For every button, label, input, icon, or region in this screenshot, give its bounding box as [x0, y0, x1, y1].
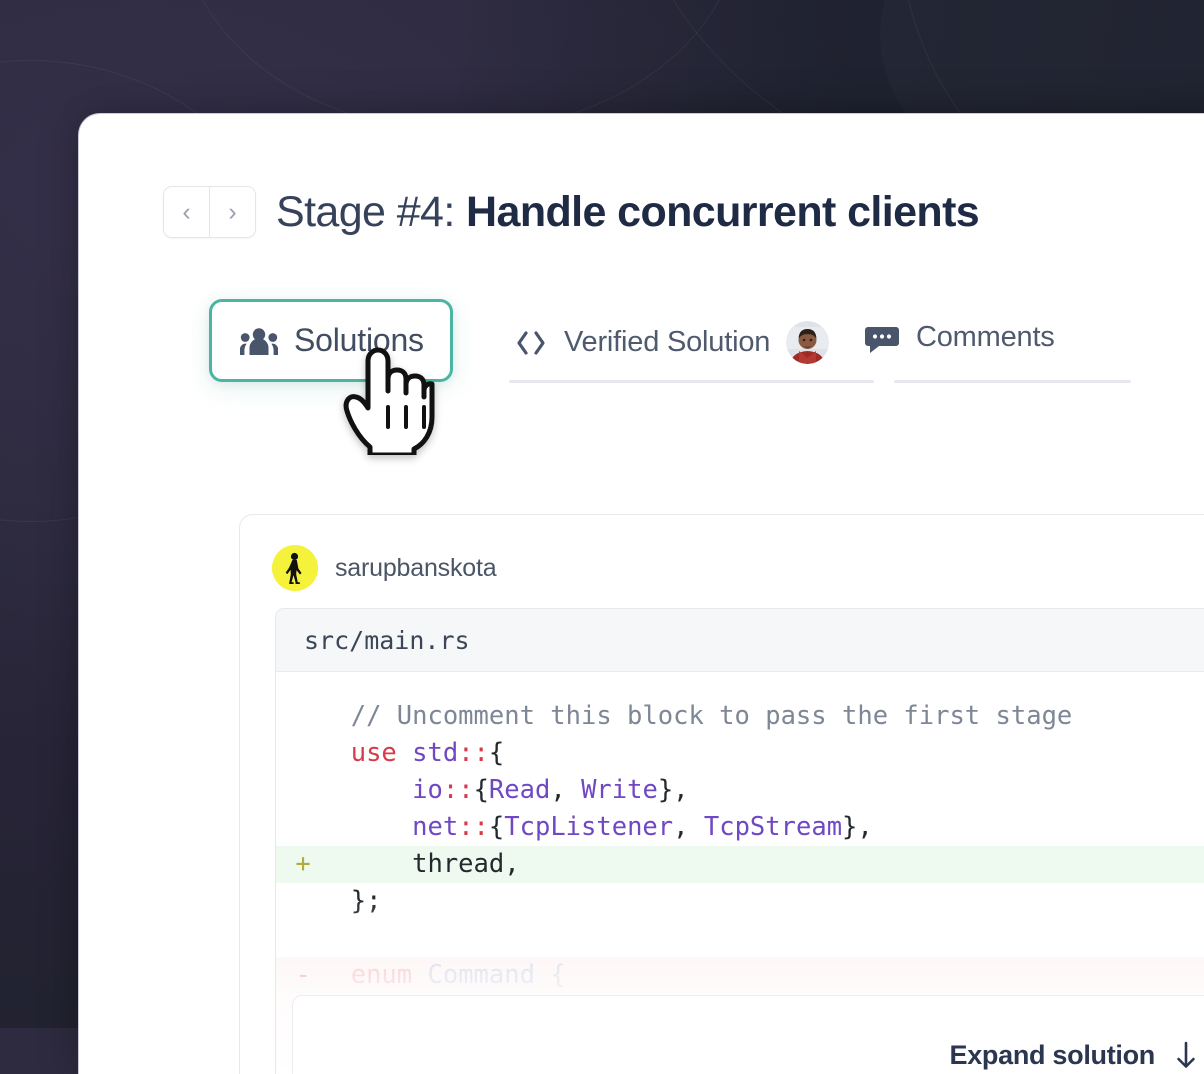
code-token: // Uncomment this block to pass the firs… [351, 701, 1073, 731]
code-token [412, 960, 427, 990]
tab-label-comments: Comments [916, 321, 1055, 354]
code-token [320, 701, 351, 731]
solution-panel: sarupbanskota src/main.rs // Uncomment t… [239, 514, 1204, 1074]
code-token: { [489, 812, 504, 842]
code-token [320, 738, 351, 768]
author-name: sarupbanskota [335, 554, 496, 583]
page-header: ‹ › Stage #4: Handle concurrent clients [163, 186, 979, 238]
people-icon [240, 326, 278, 356]
code-token [320, 886, 351, 916]
code-token: TcpStream [704, 812, 842, 842]
code-line-gutter [286, 698, 320, 735]
code-token: { [535, 960, 566, 990]
tab-label-verified: Verified Solution [564, 326, 770, 359]
next-stage-button[interactable]: › [210, 187, 255, 237]
code-token: { [489, 738, 504, 768]
code-token: , [550, 775, 581, 805]
code-line-gutter [286, 735, 320, 772]
code-line-gutter: - [286, 957, 320, 994]
app-window-card: ‹ › Stage #4: Handle concurrent clients … [78, 113, 1204, 1074]
code-token: , [673, 812, 704, 842]
tab-bar: Verified Solution [129, 307, 1204, 397]
code-token: thread, [412, 849, 519, 879]
page-title: Stage #4: Handle concurrent clients [276, 188, 979, 237]
code-token: }, [658, 775, 689, 805]
code-line-context [276, 920, 1204, 957]
code-line-add: + thread, [276, 846, 1204, 883]
code-token: std [412, 738, 458, 768]
code-token [397, 738, 412, 768]
code-token: enum [351, 960, 412, 990]
code-diff-card: src/main.rs // Uncomment this block to p… [275, 608, 1204, 1074]
code-token: :: [443, 775, 474, 805]
code-token [320, 960, 351, 990]
arrow-down-icon [1175, 1040, 1197, 1070]
code-token: Read [489, 775, 550, 805]
code-line-gutter [286, 883, 320, 920]
tab-underline-comments [894, 380, 1131, 383]
code-icon [514, 328, 548, 358]
code-line-gutter: + [286, 846, 320, 883]
solution-author-row: sarupbanskota [240, 515, 1204, 591]
verified-solution-avatar [786, 321, 829, 364]
code-token: :: [458, 738, 489, 768]
prev-stage-button[interactable]: ‹ [164, 187, 210, 237]
code-line-context: io::{Read, Write}, [276, 772, 1204, 809]
code-token: io [412, 775, 443, 805]
tab-verified-solution[interactable]: Verified Solution [514, 321, 829, 364]
code-token: :: [458, 812, 489, 842]
chat-icon [864, 323, 900, 353]
code-token: net [412, 812, 458, 842]
code-line-context: }; [276, 883, 1204, 920]
tab-solutions[interactable]: Solutions [209, 299, 453, 382]
code-token [320, 812, 412, 842]
tab-underline-verified [509, 380, 874, 383]
code-token: }; [351, 886, 382, 916]
code-line-del: - enum Command { [276, 957, 1204, 994]
code-token: Command [428, 960, 535, 990]
code-token [320, 849, 412, 879]
code-token: Write [581, 775, 658, 805]
code-line-gutter [286, 920, 320, 957]
expand-solution-button[interactable]: Expand solution [949, 1040, 1197, 1071]
code-token: { [474, 775, 489, 805]
author-avatar [272, 545, 318, 591]
page-title-main: Handle concurrent clients [466, 188, 979, 236]
expand-solution-label: Expand solution [949, 1040, 1155, 1071]
tab-label-solutions: Solutions [294, 322, 424, 359]
code-line-gutter [286, 772, 320, 809]
code-line-gutter [286, 809, 320, 846]
code-token [320, 775, 412, 805]
expand-solution-panel: Expand solution [292, 995, 1204, 1074]
stage-nav-group[interactable]: ‹ › [163, 186, 256, 238]
code-line-context: use std::{ [276, 735, 1204, 772]
code-filename: src/main.rs [276, 609, 1204, 672]
code-token: TcpListener [504, 812, 673, 842]
code-token: use [351, 738, 397, 768]
code-line-context: net::{TcpListener, TcpStream}, [276, 809, 1204, 846]
page-title-prefix: Stage #4: [276, 188, 466, 236]
code-line-context: // Uncomment this block to pass the firs… [276, 698, 1204, 735]
code-token: }, [842, 812, 873, 842]
tab-comments[interactable]: Comments [864, 321, 1055, 354]
